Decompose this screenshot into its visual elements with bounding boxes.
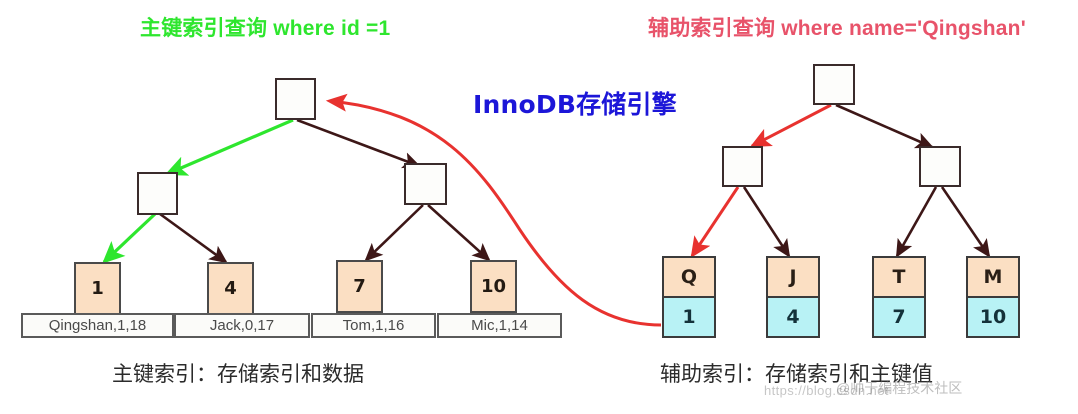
clustered-internal-node-right [404,163,447,205]
edge-sec-right-internal-to-leaf-t [897,187,936,256]
secondary-leaf-pk-m: 10 [968,298,1018,336]
clustered-leaf-data-1: Qingshan,1,18 [21,313,174,338]
clustered-leaf-data-7: Tom,1,16 [311,313,436,338]
secondary-leaf-key-m: M [968,258,1018,298]
secondary-leaf-key-j: J [768,258,818,298]
primary-index-query-title: 主键索引查询 where id =1 [140,12,390,42]
clustered-leaf-key-10: 10 [470,260,517,313]
secondary-leaf-t: T 7 [872,256,926,338]
secondary-internal-node-right [919,146,961,187]
secondary-leaf-pk-t: 7 [874,298,924,336]
edge-left-internal-to-leaf-4 [160,214,226,262]
edge-right-internal-to-leaf-7 [366,205,423,260]
clustered-leaf-key-1: 1 [74,262,121,315]
secondary-leaf-key-t: T [874,258,924,298]
edge-root-to-right-internal [297,120,419,166]
clustered-leaf-data-4: Jack,0,17 [174,313,310,338]
secondary-root-node [813,64,855,105]
edge-sec-right-internal-to-leaf-m [942,187,989,256]
clustered-leaf-data-10: Mic,1,14 [437,313,562,338]
edge-sec-left-internal-to-leaf-j [744,187,789,256]
edge-root-to-left-internal-primary [167,120,293,174]
clustered-index-caption: 主键索引：存储索引和数据 [112,358,364,388]
diagram-canvas: 主键索引查询 where id =1 辅助索引查询 where name='Qi… [0,0,1078,414]
secondary-leaf-j: J 4 [766,256,820,338]
secondary-leaf-pk-j: 4 [768,298,818,336]
innodb-engine-title: InnoDB存储引擎 [473,85,677,121]
secondary-internal-node-left [722,146,763,187]
secondary-leaf-q: Q 1 [662,256,716,338]
edge-sec-root-to-left-internal-secondary [752,105,831,146]
edge-sec-root-to-right-internal [836,105,932,147]
secondary-leaf-key-q: Q [664,258,714,298]
secondary-index-query-title: 辅助索引查询 where name='Qingshan' [648,12,1026,42]
clustered-leaf-key-4: 4 [207,262,254,315]
watermark-author: @帅于编程技术社区 [836,378,962,398]
clustered-root-node [275,78,316,120]
clustered-leaf-key-7: 7 [336,260,383,313]
secondary-leaf-pk-q: 1 [664,298,714,336]
clustered-internal-node-left [137,172,178,215]
secondary-leaf-m: M 10 [966,256,1020,338]
edge-sec-left-internal-to-leaf-q [692,187,738,256]
edge-left-internal-to-leaf-1 [104,214,155,262]
edge-right-internal-to-leaf-10 [428,205,489,260]
